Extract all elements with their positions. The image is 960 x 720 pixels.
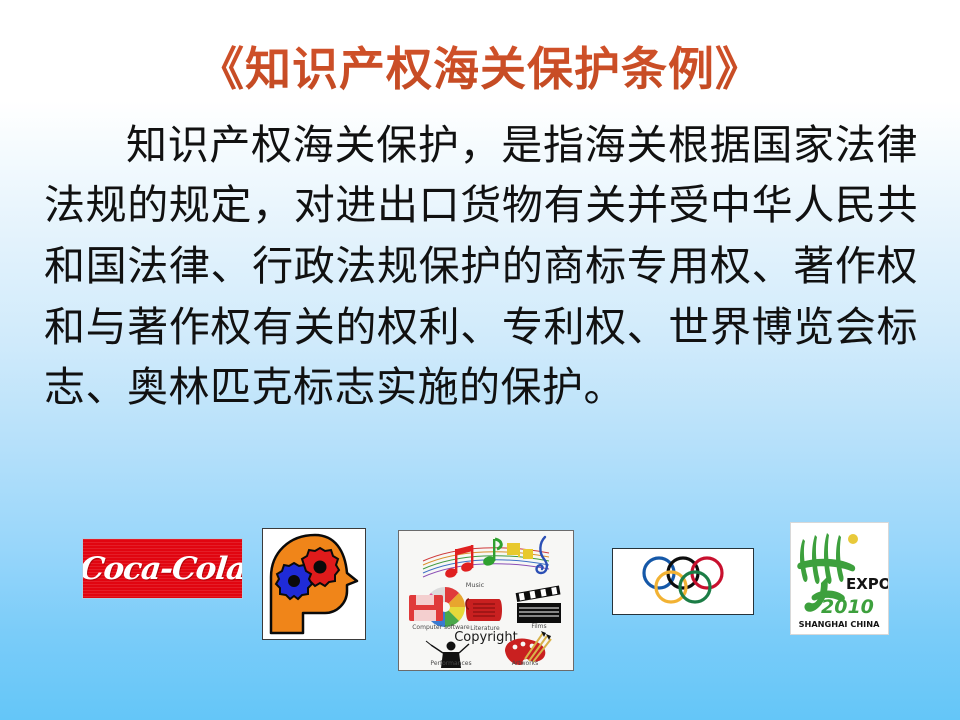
label-films: Films [531, 623, 546, 630]
expo-2010-logo-image: EXPO 2010 SHANGHAI CHINA [790, 522, 889, 635]
expo-2010-icon: EXPO 2010 SHANGHAI CHINA [791, 523, 888, 634]
coca-cola-wordmark: Coca-Cola [82, 551, 243, 587]
patent-head-image [262, 528, 366, 640]
copyright-collage-image: Music Computer software [398, 530, 574, 671]
expo-year-label: 2010 [821, 596, 874, 618]
expo-city-label: SHANGHAI CHINA [799, 619, 881, 629]
expo-label: EXPO [846, 575, 888, 593]
body-container: 知识产权海关保护，是指海关根据国家法律法规的规定，对进出口货物有关并受中华人民共… [0, 95, 960, 418]
label-music: Music [466, 581, 485, 589]
olympic-rings-image [612, 548, 754, 615]
olympic-rings-icon [613, 549, 753, 614]
head-gears-icon [263, 529, 365, 639]
label-copyright: Copyright [454, 630, 518, 645]
label-artworks: Artworks [512, 660, 539, 667]
copyright-collage-icon: Music Computer software [399, 531, 573, 670]
figure-strip: Coca-Cola [0, 518, 960, 688]
label-performances: Performances [430, 660, 471, 667]
page-title: 《知识产权海关保护条例》 [0, 0, 960, 95]
coca-cola-logo: Coca-Cola [82, 538, 243, 599]
body-paragraph: 知识产权海关保护，是指海关根据国家法律法规的规定，对进出口货物有关并受中华人民共… [44, 115, 918, 418]
